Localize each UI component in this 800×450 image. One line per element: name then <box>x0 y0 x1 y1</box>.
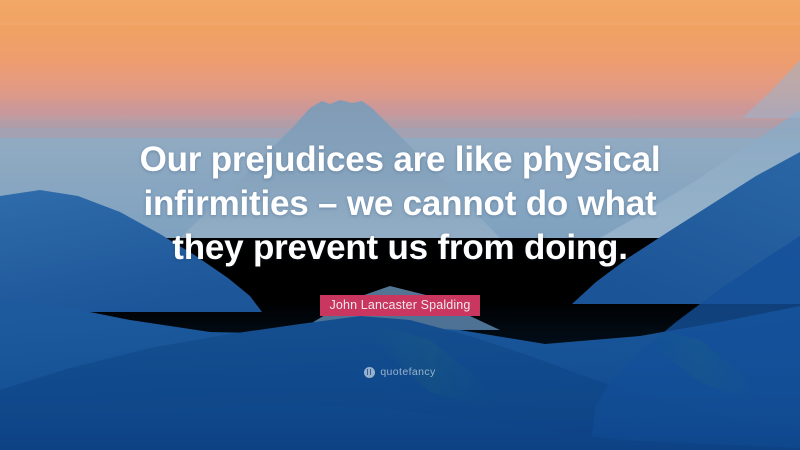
quotefancy-watermark: quotefancy <box>0 366 800 378</box>
quote-wallpaper: Our prejudices are like physical infirmi… <box>0 0 800 450</box>
quote-line-1: Our prejudices are like physical <box>60 138 740 182</box>
quotefancy-logo-icon <box>364 367 375 378</box>
quote-overlay: Our prejudices are like physical infirmi… <box>0 0 800 450</box>
watermark-brand-label: quotefancy <box>380 366 435 378</box>
quote-line-2: infirmities – we cannot do what <box>60 182 740 226</box>
author-name-badge: John Lancaster Spalding <box>320 295 479 316</box>
author-attribution: John Lancaster Spalding <box>0 295 800 316</box>
quote-text: Our prejudices are like physical infirmi… <box>0 138 800 270</box>
quote-line-3: they prevent us from doing. <box>60 226 740 270</box>
